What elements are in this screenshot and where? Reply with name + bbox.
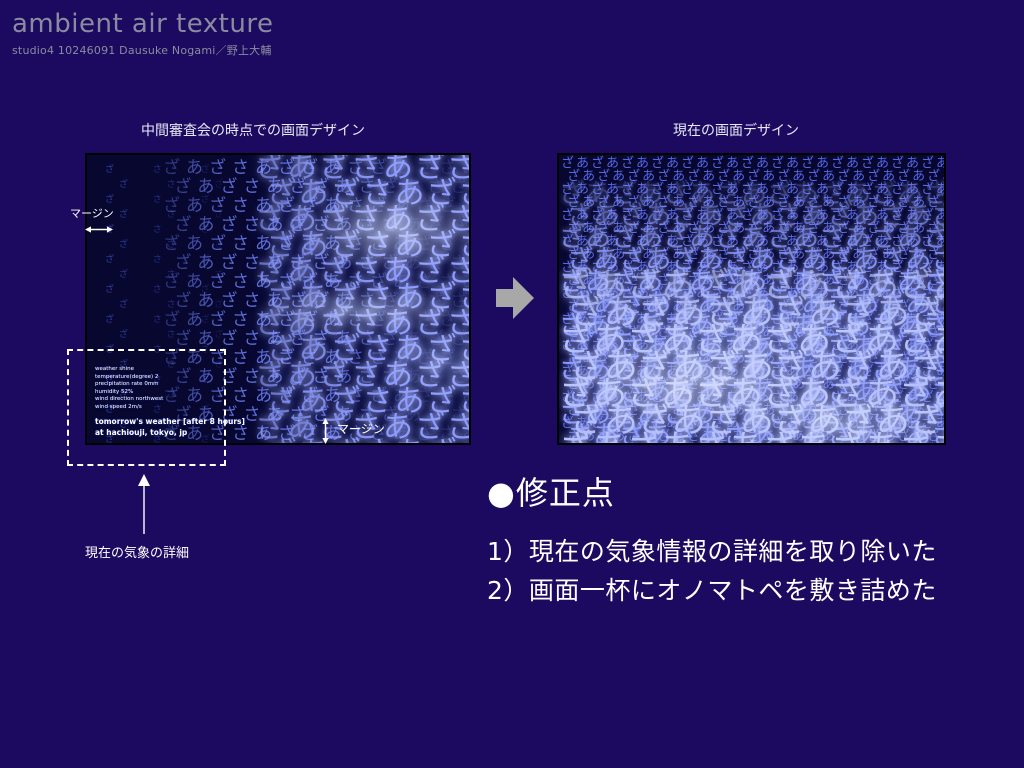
note-item: 1）現在の気象情報の詳細を取り除いた — [487, 533, 987, 572]
texture-glow-overlay — [559, 155, 944, 443]
page-title: ambient air texture — [12, 10, 612, 39]
page-subtitle: studio4 10246091 Dausuke Nogami／野上大輔 — [12, 42, 612, 58]
double-arrow-horizontal-icon — [85, 225, 113, 234]
revision-notes: ●修正点 1）現在の気象情報の詳細を取り除いた2）画面一杯にオノマトペを敷き詰め… — [487, 476, 987, 611]
notes-list: 1）現在の気象情報の詳細を取り除いた2）画面一杯にオノマトペを敷き詰めた — [487, 533, 987, 611]
notes-heading: ●修正点 — [487, 476, 987, 511]
left-panel-caption: 中間審査会の時点での画面デザイン — [141, 120, 365, 140]
texture-layer-mid: ざあざあざあざあざあざあざあざあざあざあざあざあざあざあざあ ざあざあざあざあざ… — [559, 155, 944, 443]
double-arrow-vertical-icon — [321, 418, 330, 444]
arrow-up-icon — [136, 474, 152, 534]
texture-layer-large: ざあざあざあざあざあざあざあざあざあざあざあざあ ざあざあざあざあざあざあざあざ… — [559, 155, 944, 443]
slide-header: ambient air texture studio4 10246091 Dau… — [12, 10, 612, 58]
weather-detail-callout-label: 現在の気象の詳細 — [85, 542, 189, 561]
weather-detail-highlight-box — [67, 349, 226, 466]
screen-design-current: ざあざあざあざあざあざあざあざあざあざあざあざあざあざあざあざあざあざあざあざあ… — [557, 153, 946, 445]
margin-label-horizontal: マージン — [70, 205, 114, 221]
slide-root: ambient air texture studio4 10246091 Dau… — [0, 0, 1024, 768]
texture-layer-small: ざあざあざあざあざあざあざあざあざあざあざあざあざあざあざあざあざあざあざあざあ… — [559, 155, 944, 443]
margin-label-vertical: マージン — [337, 420, 385, 437]
arrow-right-icon — [496, 276, 534, 320]
note-item: 2）画面一杯にオノマトペを敷き詰めた — [487, 572, 987, 611]
right-panel-caption: 現在の画面デザイン — [673, 120, 799, 140]
